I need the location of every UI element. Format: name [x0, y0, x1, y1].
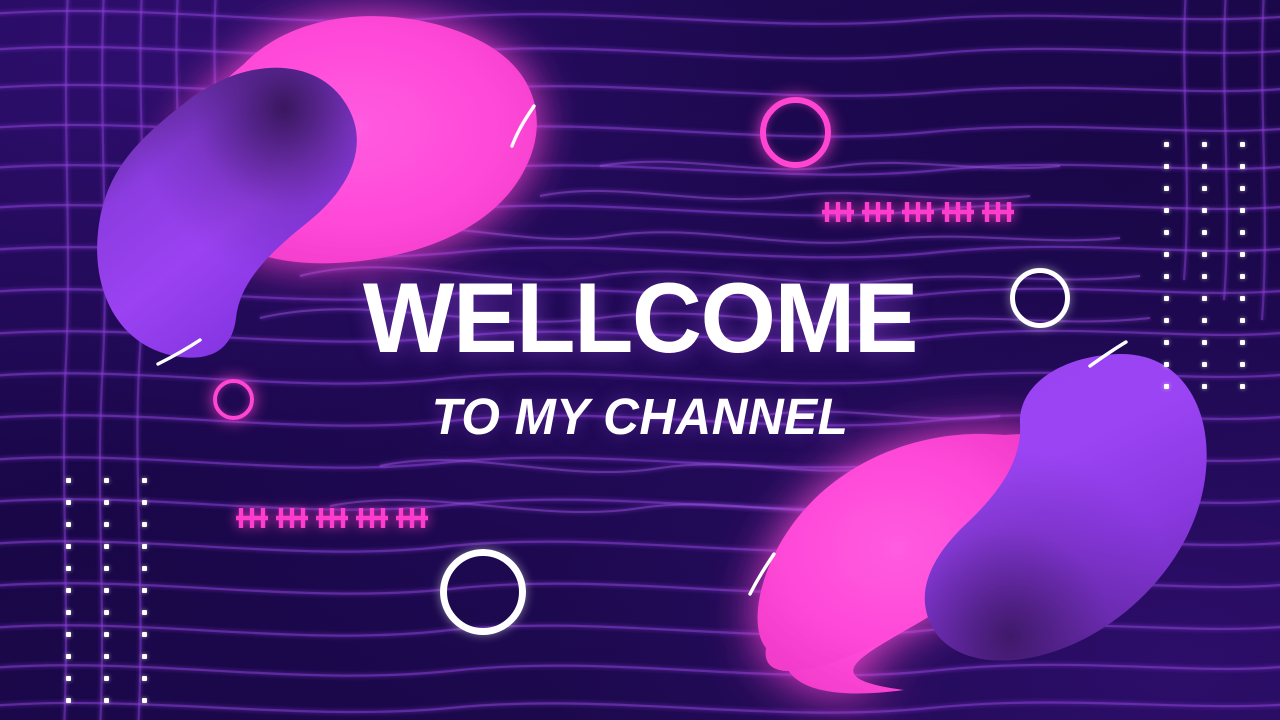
grid-dot [1240, 142, 1245, 147]
grid-dot [142, 522, 147, 527]
grid-dot [1240, 186, 1245, 191]
grid-dot [1202, 274, 1207, 279]
grid-dot [1202, 296, 1207, 301]
grid-dot [66, 610, 71, 615]
grid-dot [1164, 142, 1169, 147]
grid-dot [1240, 164, 1245, 169]
grid-dot [66, 566, 71, 571]
grid-dot [1164, 384, 1169, 389]
grid-dot [1240, 252, 1245, 257]
grid-dot [1202, 208, 1207, 213]
grid-dot [1164, 164, 1169, 169]
grid-dot [1240, 318, 1245, 323]
grid-dot [104, 588, 109, 593]
grid-dot [1164, 340, 1169, 345]
grid-dot [66, 698, 71, 703]
grid-dot [66, 478, 71, 483]
tally-top-right [820, 196, 1026, 233]
grid-dot [104, 610, 109, 615]
arc-left-mid [150, 332, 208, 377]
grid-dot [142, 654, 147, 659]
arc-bottom-left-blob [742, 548, 784, 605]
grid-dot [104, 698, 109, 703]
grid-dot [1240, 274, 1245, 279]
grid-dot [142, 588, 147, 593]
grid-dot [1202, 142, 1207, 147]
arc-top-center [504, 100, 546, 157]
grid-dot [104, 632, 109, 637]
grid-dot [66, 500, 71, 505]
grid-dot [1202, 318, 1207, 323]
pink-ring-top-right [760, 97, 831, 168]
grid-dot [142, 478, 147, 483]
grid-dot [1164, 274, 1169, 279]
grid-dot [1240, 230, 1245, 235]
tally-bottom-left [234, 502, 440, 539]
grid-dot [142, 566, 147, 571]
white-ring-bottom-center [440, 549, 526, 635]
grid-dot [142, 632, 147, 637]
dot-grid-right [1164, 142, 1245, 389]
grid-dot [66, 544, 71, 549]
grid-dot [142, 610, 147, 615]
grid-dot [1202, 362, 1207, 367]
grid-dot [1202, 186, 1207, 191]
white-ring-right [1010, 268, 1070, 328]
pink-ring-left [213, 379, 254, 420]
grid-dot [142, 500, 147, 505]
grid-dot [1164, 318, 1169, 323]
grid-dot [1164, 362, 1169, 367]
grid-dot [1164, 186, 1169, 191]
grid-dot [142, 698, 147, 703]
grid-dot [104, 654, 109, 659]
grid-dot [104, 566, 109, 571]
grid-dot [1202, 384, 1207, 389]
grid-dot [66, 676, 71, 681]
grid-dot [66, 588, 71, 593]
grid-dot [1202, 230, 1207, 235]
grid-dot [104, 522, 109, 527]
grid-dot [1202, 340, 1207, 345]
grid-dot [104, 478, 109, 483]
grid-dot [1164, 296, 1169, 301]
grid-dot [1240, 208, 1245, 213]
grid-dot [66, 522, 71, 527]
grid-dot [1240, 362, 1245, 367]
grid-dot [104, 544, 109, 549]
grid-dot [1240, 384, 1245, 389]
grid-dot [104, 500, 109, 505]
grid-dot [1164, 230, 1169, 235]
grid-dot [1202, 252, 1207, 257]
grid-dot [1240, 340, 1245, 345]
grid-dot [104, 676, 109, 681]
arc-right-mid [1082, 334, 1134, 379]
grid-dot [142, 544, 147, 549]
dot-grid-left [66, 478, 147, 703]
grid-dot [66, 632, 71, 637]
grid-dot [1202, 164, 1207, 169]
grid-dot [142, 676, 147, 681]
banner-canvas: WELLCOME TO MY CHANNEL [0, 0, 1280, 720]
grid-dot [1164, 208, 1169, 213]
grid-dot [66, 654, 71, 659]
grid-dot [1164, 252, 1169, 257]
grid-dot [1240, 296, 1245, 301]
